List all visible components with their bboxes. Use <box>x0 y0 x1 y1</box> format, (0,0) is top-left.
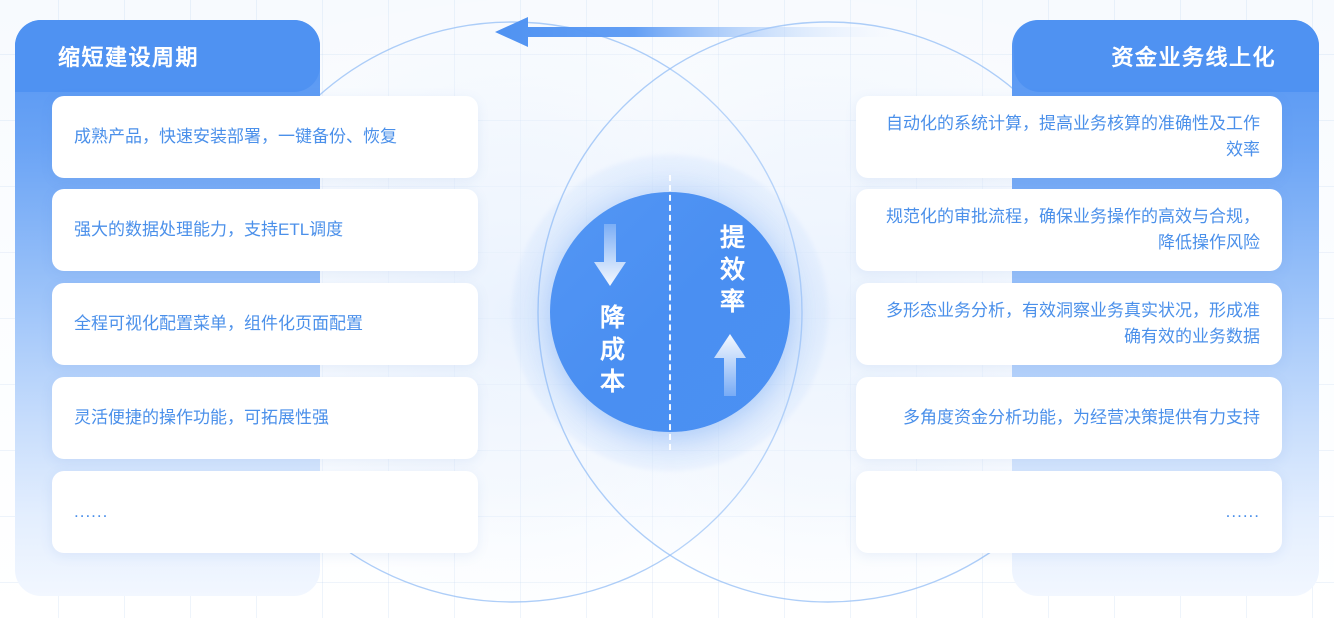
list-item[interactable]: 全程可视化配置菜单，组件化页面配置 <box>52 283 478 365</box>
center-left-label: 降成本 <box>598 304 623 400</box>
list-item[interactable]: 灵活便捷的操作功能，可拓展性强 <box>52 377 478 459</box>
right-card-text: 多形态业务分析，有效洞察业务真实状况，形成准确有效的业务数据 <box>878 298 1260 351</box>
list-item[interactable]: ...... <box>52 471 478 553</box>
left-card-text: 成熟产品，快速安装部署，一键备份、恢复 <box>74 124 397 150</box>
right-card-text: 自动化的系统计算，提高业务核算的准确性及工作效率 <box>878 111 1260 164</box>
right-card-ellipsis: ...... <box>1226 499 1260 525</box>
list-item[interactable]: ...... <box>856 471 1282 553</box>
center-right-label: 提效率 <box>718 224 743 320</box>
right-card-text: 多角度资金分析功能，为经营决策提供有力支持 <box>903 405 1260 431</box>
right-panel-title: 资金业务线上化 <box>1111 40 1276 72</box>
center-right-group: 提效率 <box>670 192 790 432</box>
right-card-text: 规范化的审批流程，确保业务操作的高效与合规，降低操作风险 <box>878 204 1260 257</box>
right-panel-header: 资金业务线上化 <box>1014 20 1319 92</box>
list-item[interactable]: 自动化的系统计算，提高业务核算的准确性及工作效率 <box>856 96 1282 178</box>
arrow-down-icon <box>593 224 627 290</box>
list-item[interactable]: 多角度资金分析功能，为经营决策提供有力支持 <box>856 377 1282 459</box>
arrow-up-icon <box>713 334 747 400</box>
list-item[interactable]: 规范化的审批流程，确保业务操作的高效与合规，降低操作风险 <box>856 189 1282 271</box>
list-item[interactable]: 强大的数据处理能力，支持ETL调度 <box>52 189 478 271</box>
left-card-text: 强大的数据处理能力，支持ETL调度 <box>74 217 343 243</box>
left-card-ellipsis: ...... <box>74 499 108 525</box>
list-item[interactable]: 多形态业务分析，有效洞察业务真实状况，形成准确有效的业务数据 <box>856 283 1282 365</box>
left-card-text: 灵活便捷的操作功能，可拓展性强 <box>74 405 329 431</box>
left-panel-header: 缩短建设周期 <box>15 20 320 92</box>
center-left-group: 降成本 <box>550 192 670 432</box>
left-panel-title: 缩短建设周期 <box>58 40 199 72</box>
infographic-canvas: 缩短建设周期 资金业务线上化 成熟产品，快速安装部署，一键备份、恢复 强大的数据… <box>0 0 1334 618</box>
list-item[interactable]: 成熟产品，快速安装部署，一键备份、恢复 <box>52 96 478 178</box>
left-card-text: 全程可视化配置菜单，组件化页面配置 <box>74 311 363 337</box>
